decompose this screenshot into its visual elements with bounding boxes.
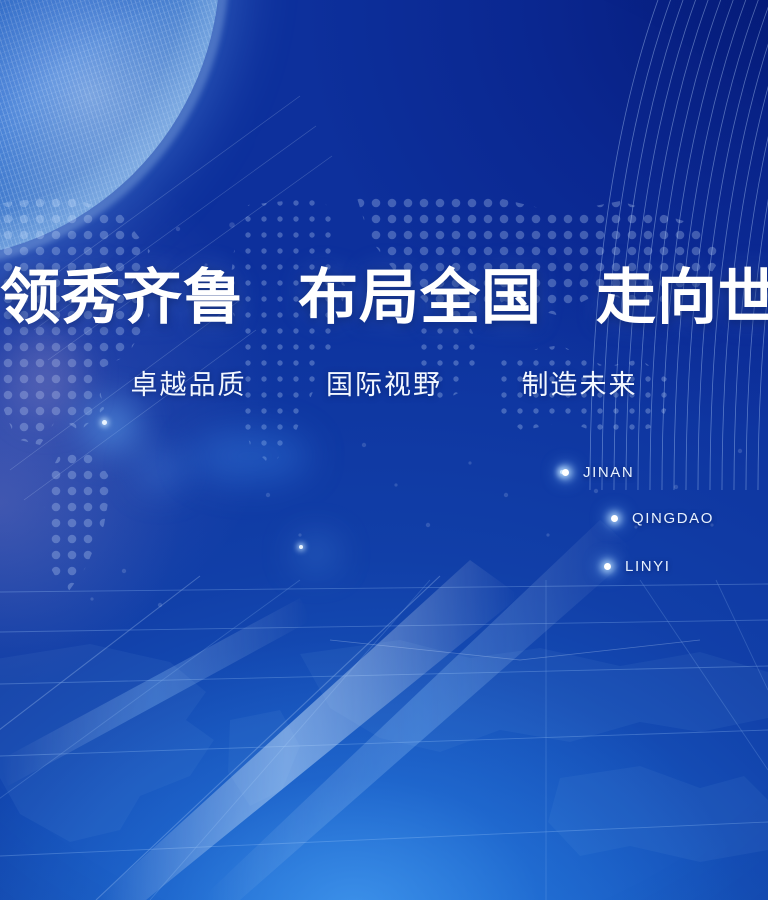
hero-banner: 领秀齐鲁 布局全国 走向世界 卓越品质 国际视野 制造未来 JINAN QING… (0, 0, 768, 900)
vignette-overlay (0, 0, 768, 900)
